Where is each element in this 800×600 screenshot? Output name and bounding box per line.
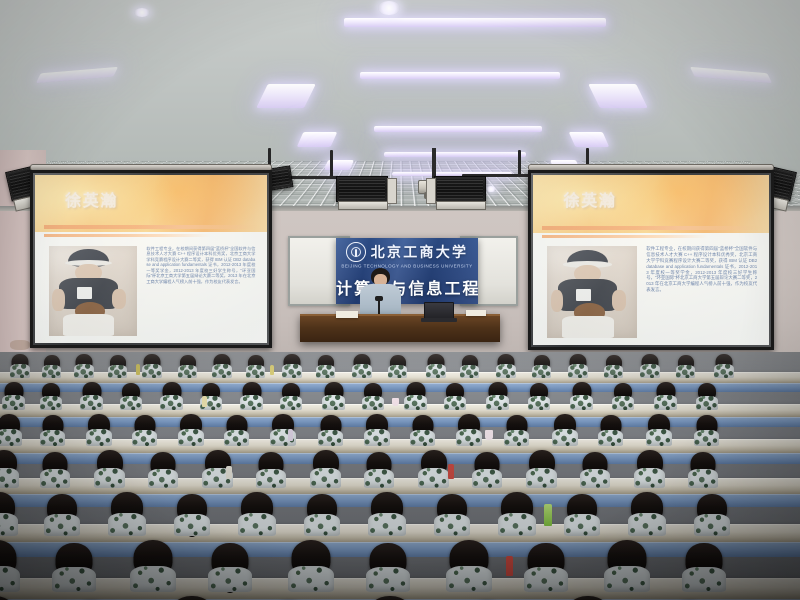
fluorescent-tube: [256, 84, 316, 108]
audience-seating: [0, 352, 800, 600]
student: [604, 355, 623, 378]
student-uniform: [316, 365, 335, 378]
student: [164, 596, 220, 600]
student-uniform: [472, 469, 502, 488]
student-uniform: [368, 513, 406, 536]
ceiling-downlight: [378, 1, 400, 15]
slide-right: 徐英瀚 软件工程专业，在校期间获得第四届“蓝桥杯”全国软件与信息技术人才大赛 C…: [533, 175, 769, 345]
student: [526, 450, 557, 488]
student: [132, 415, 157, 446]
speaker-reflector: [436, 201, 486, 210]
student-uniform: [640, 364, 660, 378]
fluorescent-tube: [588, 84, 648, 108]
student: [472, 452, 502, 488]
student-uniform: [524, 567, 568, 592]
student: [696, 383, 718, 410]
water-bottle: [202, 396, 207, 407]
student: [240, 382, 263, 410]
student-uniform: [612, 396, 634, 410]
speaker-mount-rod: [330, 150, 333, 178]
student: [310, 450, 341, 488]
student: [368, 492, 406, 536]
student-uniform: [604, 365, 623, 378]
student: [174, 494, 210, 536]
student: [446, 540, 492, 592]
drink-cup: [485, 430, 493, 440]
student-uniform: [364, 429, 390, 446]
fluorescent-tube: [36, 67, 118, 83]
student-hair: [366, 596, 414, 600]
student-uniform: [526, 468, 557, 488]
student-uniform: [532, 365, 551, 378]
student: [460, 355, 479, 378]
student: [224, 415, 249, 446]
student: [120, 383, 142, 410]
student-uniform: [288, 566, 334, 592]
student-uniform: [282, 364, 302, 378]
student-uniform: [94, 468, 125, 488]
student: [108, 355, 127, 378]
student: [388, 355, 407, 378]
student: [444, 383, 466, 410]
student: [352, 354, 372, 378]
student-uniform: [654, 395, 677, 410]
student-uniform: [504, 430, 529, 446]
student-hair: [168, 596, 216, 600]
student-uniform: [646, 429, 672, 446]
student-uniform: [108, 365, 127, 378]
photo-arm: [112, 289, 126, 309]
slide-body-text-right: 软件工程专业，在校期间获得第四届“蓝桥杯”全国软件与信息技术人才大赛 C++ 程…: [646, 246, 757, 338]
student-uniform: [80, 395, 103, 410]
fluorescent-tube: [360, 72, 560, 79]
student: [246, 355, 265, 378]
student: [694, 494, 730, 536]
student-uniform: [10, 364, 30, 378]
student-uniform: [580, 469, 610, 488]
student: [42, 355, 61, 378]
student-uniform: [676, 365, 695, 378]
fluorescent-tube: [324, 160, 354, 170]
student-uniform: [86, 429, 112, 446]
student-uniform: [174, 514, 210, 536]
student: [280, 383, 302, 410]
student: [0, 540, 20, 592]
student: [142, 354, 162, 378]
hanging-speaker: [434, 176, 486, 202]
student-uniform: [318, 430, 343, 446]
student: [486, 382, 509, 410]
laptop-on-table[interactable]: [424, 302, 454, 319]
photo-arm: [612, 290, 626, 310]
student-uniform: [388, 365, 407, 378]
student: [682, 543, 726, 592]
student-uniform: [130, 566, 176, 592]
student: [410, 415, 435, 446]
student-uniform: [366, 567, 410, 592]
speaker-grill: [437, 179, 483, 199]
student: [580, 452, 610, 488]
water-bottle: [270, 365, 274, 375]
student: [628, 492, 666, 536]
hanging-speaker: [336, 176, 388, 202]
green-soda-bottle: [544, 504, 552, 526]
student-uniform: [486, 395, 509, 410]
student-uniform: [352, 364, 372, 378]
student-uniform: [40, 469, 70, 488]
student: [694, 415, 719, 446]
student-uniform: [160, 395, 183, 410]
student-uniform: [0, 468, 19, 488]
water-bottle: [226, 466, 232, 479]
student: [80, 382, 103, 410]
student: [418, 450, 449, 488]
student-uniform: [570, 395, 593, 410]
desk-microphone-head: [375, 296, 383, 301]
presenter-table: [300, 314, 500, 342]
student: [208, 543, 252, 592]
student-uniform: [634, 468, 665, 488]
student-uniform: [208, 567, 252, 592]
fluorescent-tube: [374, 126, 542, 132]
student: [10, 354, 30, 378]
student: [86, 414, 112, 446]
student-uniform: [694, 514, 730, 536]
photo-arm: [52, 289, 64, 311]
student: [304, 494, 340, 536]
student: [364, 452, 394, 488]
student: [40, 415, 65, 446]
student-uniform: [224, 430, 249, 446]
student: [564, 494, 600, 536]
student-uniform: [564, 514, 600, 536]
student: [568, 354, 588, 378]
student: [0, 596, 22, 600]
fluorescent-tube: [344, 18, 606, 27]
ceiling-downlight: [134, 8, 150, 17]
student: [504, 415, 529, 446]
student-uniform: [552, 429, 578, 446]
wall-mark: [10, 340, 30, 350]
fluorescent-tube: [384, 152, 526, 157]
student-uniform: [2, 395, 25, 410]
student-uniform: [568, 364, 588, 378]
student-uniform: [628, 513, 666, 536]
student: [598, 415, 623, 446]
student-uniform: [280, 396, 302, 410]
student-uniform: [148, 469, 178, 488]
student: [316, 355, 335, 378]
projection-screen-right[interactable]: 徐英瀚 软件工程专业，在校期间获得第四届“蓝桥杯”全国软件与信息技术人才大赛 C…: [528, 170, 774, 350]
student: [714, 354, 734, 378]
student: [676, 355, 695, 378]
student: [178, 414, 204, 446]
laptop-keyboard[interactable]: [421, 318, 457, 322]
student-uniform: [322, 395, 345, 410]
water-bottle: [288, 429, 293, 441]
student-uniform: [52, 567, 96, 592]
student-uniform: [108, 513, 146, 536]
student: [0, 492, 18, 536]
student-uniform: [496, 364, 516, 378]
student: [40, 383, 62, 410]
student: [0, 414, 22, 446]
student-uniform: [178, 365, 197, 378]
fluorescent-tube: [297, 132, 338, 147]
university-seal-icon: [346, 242, 366, 262]
student: [528, 383, 550, 410]
seating-row: [0, 596, 800, 600]
photo-legs: [562, 316, 614, 338]
student: [456, 414, 482, 446]
student: [130, 540, 176, 592]
student-uniform: [404, 395, 427, 410]
slide-photo-right: [547, 246, 637, 338]
student: [44, 494, 80, 536]
student: [646, 414, 672, 446]
speaker-mount-rod: [518, 150, 521, 176]
photo-arm: [551, 290, 564, 312]
student: [404, 382, 427, 410]
student-uniform: [256, 469, 286, 488]
student-uniform: [238, 513, 276, 536]
student: [524, 543, 568, 592]
slide-body-text-left: 软件工程专业，在校期间获得第四届“蓝桥杯”全国软件与信息技术人才大赛 C++ 程…: [146, 246, 255, 337]
photo-shirt-graphic: [77, 287, 92, 299]
student-uniform: [74, 364, 94, 378]
papers-on-table: [336, 311, 358, 318]
projection-screen-left[interactable]: 徐英瀚 软件工程专业，在校期间获得第四届“蓝桥杯”全国软件与信息技术人才大赛 C…: [30, 170, 272, 348]
student: [282, 354, 302, 378]
student: [362, 596, 418, 600]
student-uniform: [240, 395, 263, 410]
slide-accent-bar: [542, 235, 707, 238]
student-uniform: [364, 469, 394, 488]
student-uniform: [212, 364, 232, 378]
student-uniform: [178, 429, 204, 446]
student-uniform: [246, 365, 265, 378]
student-uniform: [0, 429, 22, 446]
banner-university-line: 北京工商大学: [336, 242, 478, 262]
slide-accent-bar: [542, 226, 759, 230]
student-uniform: [694, 430, 719, 446]
student-hair: [564, 596, 612, 600]
student-uniform: [598, 430, 623, 446]
student-uniform: [40, 396, 62, 410]
student: [318, 415, 343, 446]
student-uniform: [120, 396, 142, 410]
student-uniform: [304, 514, 340, 536]
student: [362, 383, 384, 410]
student-uniform: [444, 396, 466, 410]
student: [94, 450, 125, 488]
student: [570, 382, 593, 410]
student: [634, 450, 665, 488]
student-uniform: [460, 365, 479, 378]
student-uniform: [362, 396, 384, 410]
student: [160, 382, 183, 410]
seating-row: [0, 492, 800, 546]
student: [178, 355, 197, 378]
student: [532, 355, 551, 378]
student: [148, 452, 178, 488]
speaker-grill: [339, 179, 385, 199]
drink-cup: [392, 398, 399, 406]
student-uniform: [434, 514, 470, 536]
student: [688, 452, 718, 488]
student: [108, 492, 146, 536]
papers-on-table: [466, 310, 486, 316]
student-uniform: [418, 468, 449, 488]
student-uniform: [696, 396, 718, 410]
student: [426, 354, 446, 378]
student: [552, 414, 578, 446]
seating-row: [0, 450, 800, 498]
student-hair: [0, 596, 18, 600]
fluorescent-tube: [690, 67, 772, 83]
student: [52, 543, 96, 592]
speaker-reflector: [338, 201, 388, 210]
water-bottle: [136, 364, 140, 375]
student-uniform: [44, 514, 80, 536]
student-uniform: [0, 566, 20, 592]
fluorescent-tube: [569, 132, 610, 147]
student: [654, 382, 677, 410]
slide-photo-left: [49, 246, 137, 337]
student: [74, 354, 94, 378]
seating-row: [0, 352, 800, 386]
speaker-side-panel: [387, 178, 397, 204]
student-uniform: [142, 364, 162, 378]
student: [366, 543, 410, 592]
student-uniform: [682, 567, 726, 592]
student-uniform: [426, 364, 446, 378]
student-uniform: [42, 365, 61, 378]
student-uniform: [456, 429, 482, 446]
slide-title-left: 徐英瀚: [65, 187, 118, 211]
water-bottle: [448, 464, 454, 479]
photo-shirt-graphic: [576, 289, 591, 301]
student: [498, 492, 536, 536]
slide-accent-bar: [44, 234, 211, 237]
student: [2, 382, 25, 410]
student-uniform: [0, 513, 18, 536]
student-uniform: [604, 566, 650, 592]
student-uniform: [498, 513, 536, 536]
student: [0, 450, 19, 488]
student: [640, 354, 660, 378]
photo-legs: [63, 314, 114, 336]
slide-accent-bar: [44, 225, 257, 229]
seating-row: [0, 540, 800, 600]
speaker-side-panel: [426, 178, 436, 204]
slide-left: 徐英瀚 软件工程专业，在校期间获得第四届“蓝桥杯”全国软件与信息技术人才大赛 C…: [35, 175, 267, 343]
student: [322, 382, 345, 410]
student-uniform: [688, 469, 718, 488]
student-uniform: [310, 468, 341, 488]
student: [364, 414, 390, 446]
student: [288, 540, 334, 592]
ceiling-downlight: [486, 186, 496, 192]
student-uniform: [446, 566, 492, 592]
student-uniform: [528, 396, 550, 410]
student-uniform: [714, 364, 734, 378]
student: [612, 383, 634, 410]
lecture-hall-photo: 徐英瀚 软件工程专业，在校期间获得第四届“蓝桥杯”全国软件与信息技术人才大赛 C…: [0, 0, 800, 600]
student-uniform: [40, 430, 65, 446]
slide-title-right: 徐英瀚: [564, 187, 617, 211]
student: [256, 452, 286, 488]
student: [560, 596, 616, 600]
student-uniform: [132, 430, 157, 446]
student-uniform: [410, 430, 435, 446]
student: [212, 354, 232, 378]
student: [496, 354, 516, 378]
student: [434, 494, 470, 536]
student: [40, 452, 70, 488]
water-bottle: [506, 556, 513, 576]
student: [238, 492, 276, 536]
university-name-cn: 北京工商大学: [371, 242, 468, 262]
student: [604, 540, 650, 592]
